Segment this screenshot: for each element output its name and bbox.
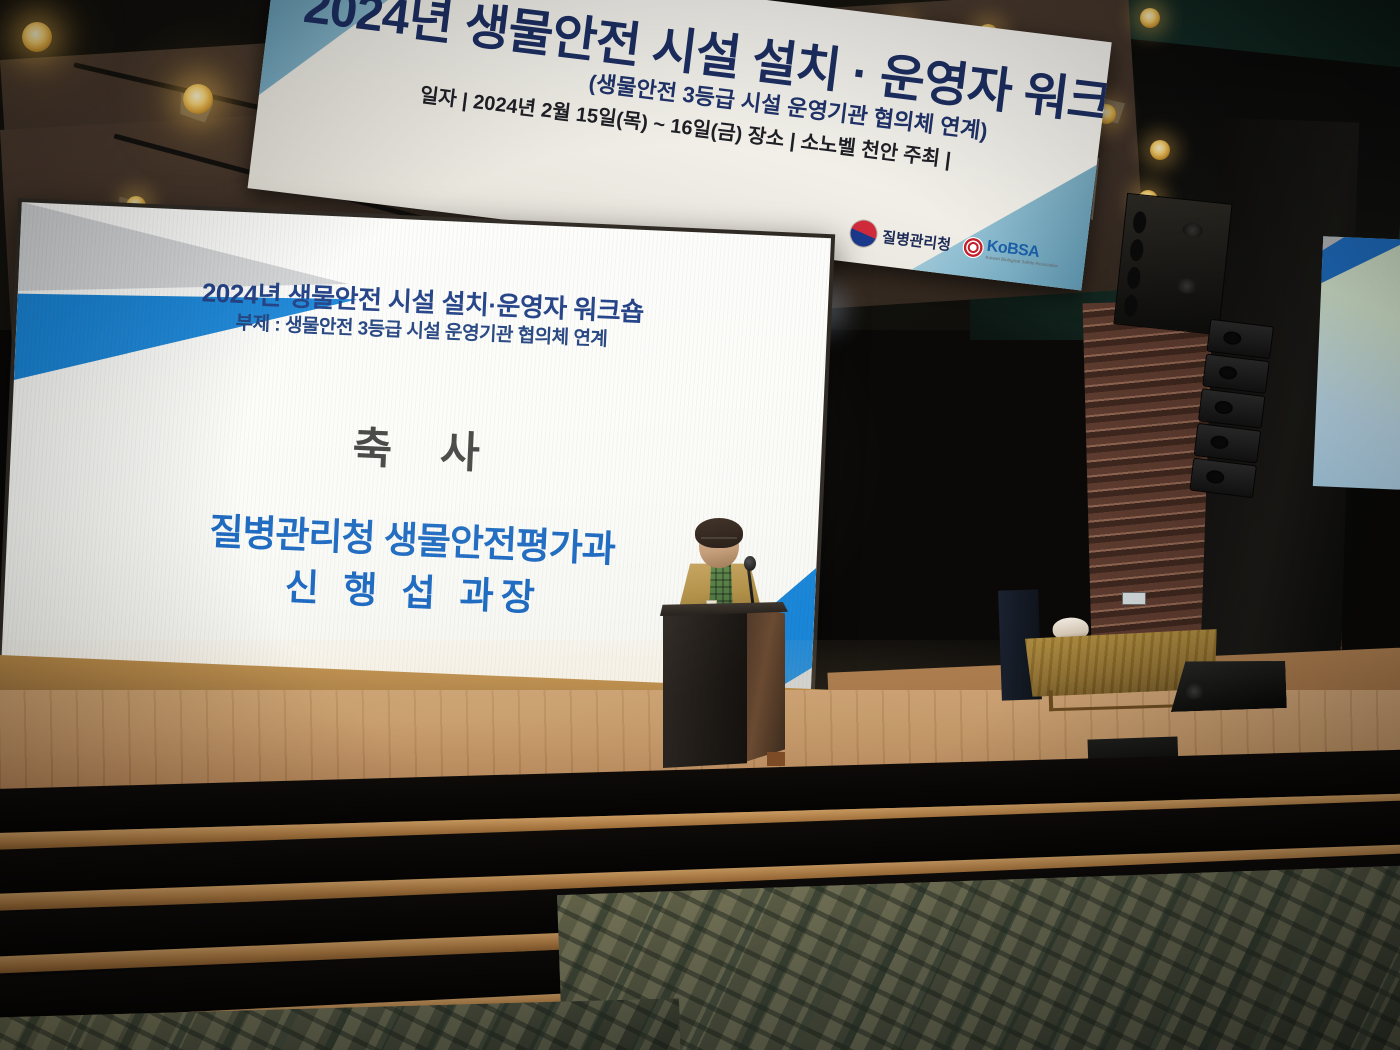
subwoofer-driver xyxy=(1182,222,1203,239)
stage-monitor-wedge xyxy=(1169,658,1287,712)
line-array-element xyxy=(1206,319,1274,360)
kdca-logo: 질병관리청 xyxy=(848,218,953,258)
slide-keyword: 축 사 xyxy=(10,398,822,496)
conference-hall-photo: 2024년 생물안전 시설 설치 · 운영자 워크숍 (생물안전 3등급 시설 … xyxy=(0,0,1400,1050)
ceiling-track-spotlight xyxy=(1140,8,1160,28)
subwoofer-port xyxy=(1132,211,1147,234)
presenter-glasses xyxy=(701,537,737,547)
subwoofer-port xyxy=(1129,239,1144,262)
lectern-foot xyxy=(767,752,785,766)
subwoofer-port xyxy=(1123,294,1138,317)
line-array-element xyxy=(1194,423,1262,464)
lectern-side-panel xyxy=(745,604,785,762)
biohazard-icon xyxy=(962,235,985,258)
kdca-label: 질병관리청 xyxy=(881,225,952,254)
subwoofer-driver xyxy=(1176,278,1197,295)
subwoofer-port xyxy=(1126,266,1141,289)
table-legs xyxy=(1049,686,1188,711)
flown-subwoofer xyxy=(1113,193,1232,335)
kobsa-wordmark: KoBSA Korean Biological Safety Associati… xyxy=(985,237,1060,268)
ceiling-track-spotlight xyxy=(1150,140,1170,160)
ceiling-track-spotlight xyxy=(22,22,52,52)
carpet-pattern xyxy=(557,865,1400,1050)
ceiling-track-spotlight xyxy=(183,84,213,114)
lectern xyxy=(663,600,793,775)
taegeuk-icon xyxy=(845,215,881,251)
gooseneck-microphone xyxy=(744,556,756,571)
auditorium-carpet xyxy=(557,865,1400,1050)
line-array-element xyxy=(1198,388,1266,429)
wall-control-plate xyxy=(1122,592,1146,605)
lectern-front-panel xyxy=(663,608,747,768)
secondary-projection-screen xyxy=(1313,236,1400,490)
line-array-element xyxy=(1202,353,1270,394)
